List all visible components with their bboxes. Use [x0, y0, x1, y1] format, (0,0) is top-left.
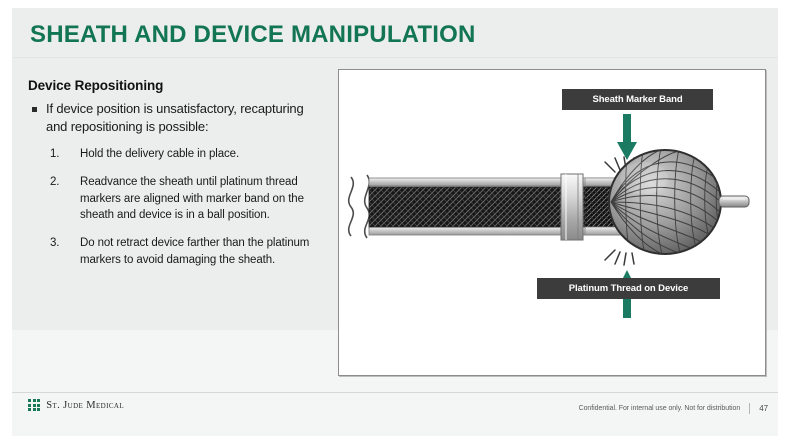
device-diagram: [339, 70, 765, 375]
callout-sheath-marker-band: Sheath Marker Band: [562, 89, 713, 110]
footer-divider: [12, 392, 778, 393]
list-item: 1. Hold the delivery cable in place.: [50, 146, 328, 162]
slide: SHEATH AND DEVICE MANIPULATION Device Re…: [0, 0, 790, 444]
footer-meta: Confidential. For internal use only. Not…: [579, 403, 768, 414]
step-text: Hold the delivery cable in place.: [80, 148, 239, 160]
arrow-down-icon: [617, 114, 637, 160]
section-subheading: Device Repositioning: [28, 78, 328, 93]
page-number: 47: [759, 404, 768, 413]
step-number: 2.: [50, 174, 72, 190]
step-text: Readvance the sheath until platinum thre…: [80, 176, 304, 221]
step-number: 1.: [50, 146, 72, 162]
bullet-text: If device position is unsatisfactory, re…: [46, 100, 328, 135]
title-divider: [12, 57, 778, 58]
list-item: 2. Readvance the sheath until platinum t…: [50, 174, 328, 223]
confidentiality-notice: Confidential. For internal use only. Not…: [579, 405, 741, 412]
sheath-marker-band: [561, 174, 583, 240]
content-column: Device Repositioning If device position …: [28, 78, 328, 280]
break-symbol: [349, 175, 370, 238]
callout-platinum-thread: Platinum Thread on Device: [537, 278, 720, 299]
logo-grid-icon: [28, 399, 40, 411]
brand-logo: St. Jude Medical: [28, 399, 124, 411]
bullet-item: If device position is unsatisfactory, re…: [28, 100, 328, 135]
square-bullet-icon: [32, 107, 37, 112]
step-number: 3.: [50, 235, 72, 251]
footer-separator: [749, 403, 750, 414]
list-item: 3. Do not retract device farther than th…: [50, 235, 328, 268]
step-text: Do not retract device farther than the p…: [80, 237, 309, 265]
figure-panel: Sheath Marker Band Platinum Thread on De…: [338, 69, 766, 376]
steps-list: 1. Hold the delivery cable in place. 2. …: [28, 146, 328, 268]
delivery-cable-stub: [719, 196, 749, 207]
mesh-occluder-ball: [609, 148, 721, 258]
logo-text: St. Jude Medical: [46, 400, 124, 411]
page-title: SHEATH AND DEVICE MANIPULATION: [30, 21, 476, 49]
